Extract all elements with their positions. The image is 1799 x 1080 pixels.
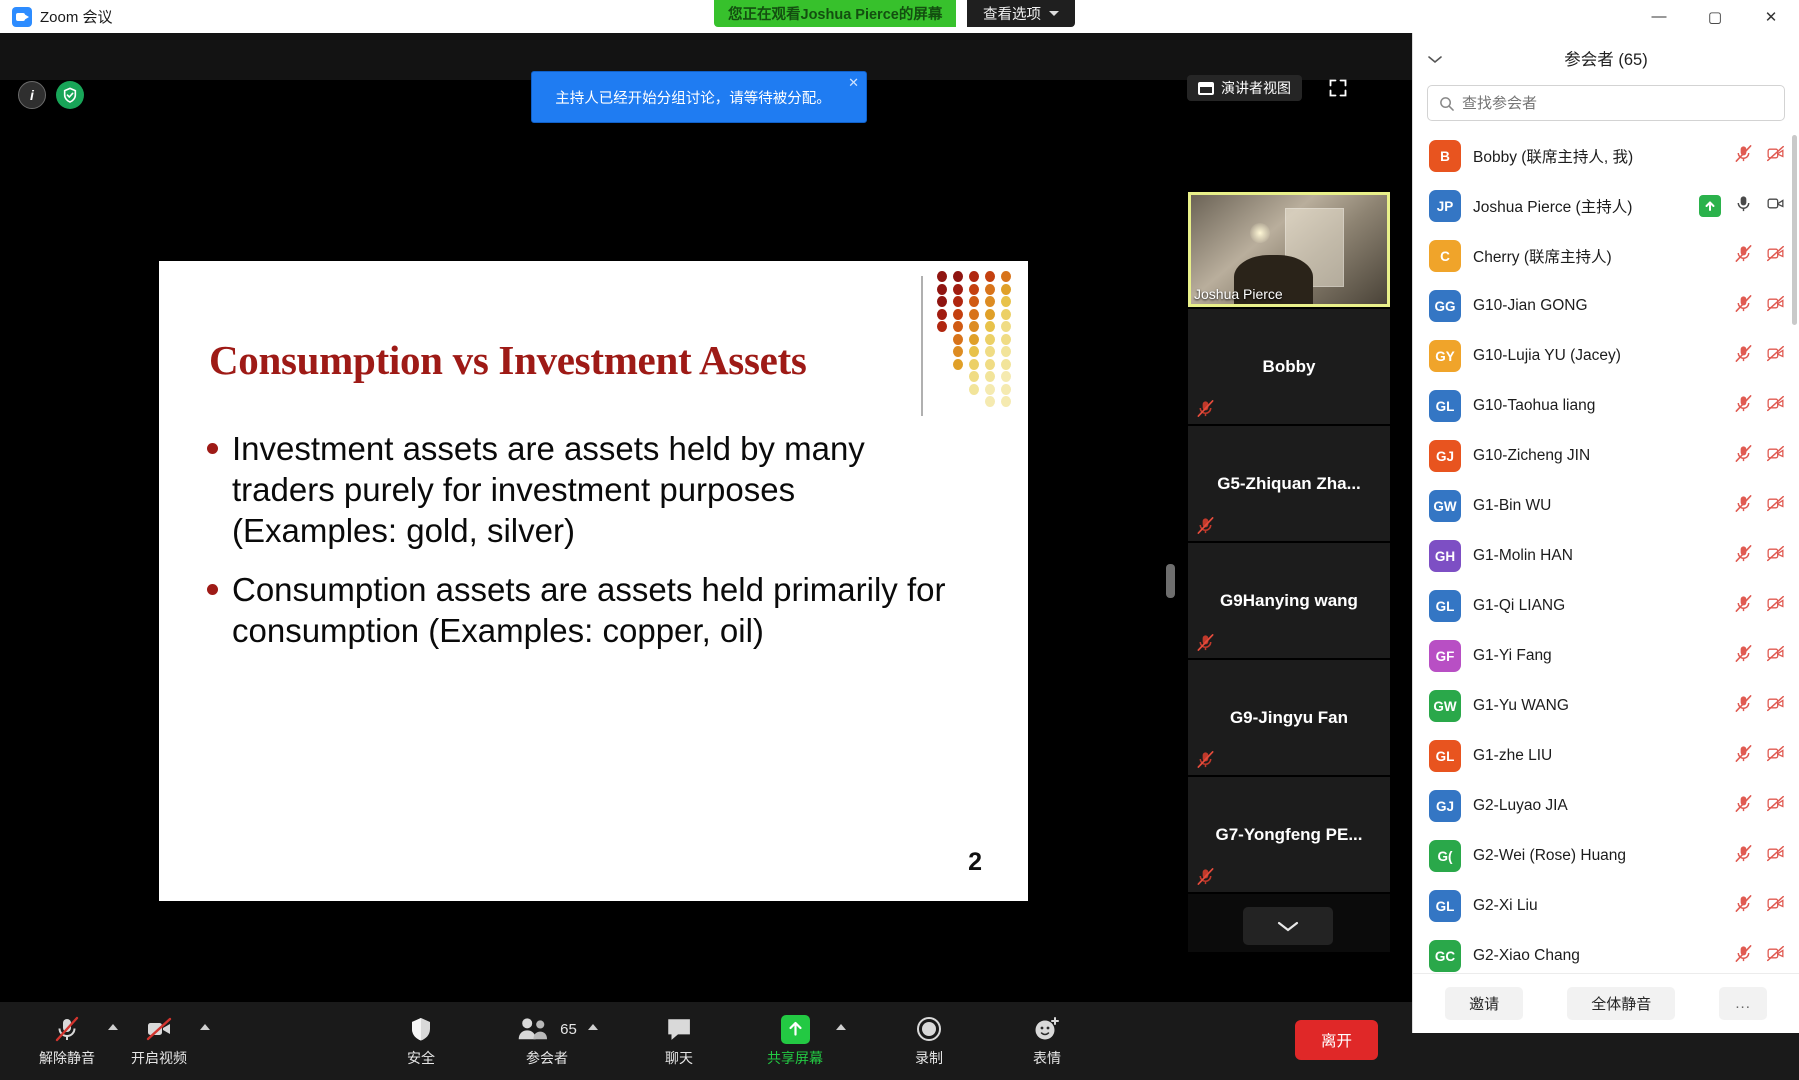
audio-options-button[interactable] xyxy=(98,1006,128,1076)
mic-off-icon xyxy=(1734,394,1753,413)
video-thumbnail[interactable]: G7-Yongfeng PE... xyxy=(1188,777,1390,894)
meeting-toolbar: 解除静音 开启视频 安全 xyxy=(0,1002,1412,1080)
mic-off-icon xyxy=(1196,633,1215,652)
participants-panel-header: 参会者 (65) xyxy=(1413,33,1799,83)
chevron-up-icon xyxy=(200,1024,210,1030)
dot-grid-dot xyxy=(969,359,979,370)
participant-mic-toggle[interactable] xyxy=(1734,794,1753,818)
slide-bullet-text: Consumption assets are assets held prima… xyxy=(232,570,967,652)
video-off-icon xyxy=(1766,944,1785,963)
participant-status-icons xyxy=(1734,294,1785,318)
video-off-icon xyxy=(1766,544,1785,563)
leave-meeting-button[interactable]: 离开 xyxy=(1295,1020,1378,1060)
participant-row[interactable]: GFG1-Yi Fang xyxy=(1413,631,1799,681)
participant-video-toggle[interactable] xyxy=(1766,544,1785,568)
video-thumbnail[interactable]: G9Hanying wang xyxy=(1188,543,1390,660)
video-off-icon xyxy=(1766,244,1785,263)
dot-grid-dot xyxy=(985,321,995,332)
dot-grid-dot xyxy=(969,271,979,282)
dot-grid-dot xyxy=(985,384,995,395)
video-background-lamp xyxy=(1250,223,1270,243)
dot-grid-dot xyxy=(985,359,995,370)
mic-off-icon xyxy=(1734,494,1753,513)
participant-mic-toggle[interactable] xyxy=(1734,344,1753,368)
video-off-icon xyxy=(145,1014,173,1044)
title-bar-left: Zoom 会议 xyxy=(0,6,700,27)
participant-video-toggle[interactable] xyxy=(1766,444,1785,468)
bullet-dot-icon xyxy=(207,584,218,595)
dot-grid-dot xyxy=(953,296,963,307)
video-options-button[interactable] xyxy=(190,1006,220,1076)
participant-mic-toggle[interactable] xyxy=(1734,694,1753,718)
participants-panel: 参会者 (65) BBobby (联席主持人, 我)JPJoshua Pierc… xyxy=(1412,33,1799,1033)
thumbnail-name: G9-Jingyu Fan xyxy=(1224,708,1354,728)
dot-grid-dot xyxy=(1001,371,1011,382)
participant-mic-toggle[interactable] xyxy=(1734,944,1753,968)
participants-panel-footer: 邀请 全体静音 ... xyxy=(1413,973,1799,1033)
video-off-icon xyxy=(1766,344,1785,363)
dot-grid-dot xyxy=(953,334,963,345)
participant-name: G1-Molin HAN xyxy=(1473,547,1722,565)
participant-row[interactable]: GJG2-Luyao JIA xyxy=(1413,781,1799,831)
mic-off-icon xyxy=(1734,894,1753,913)
participant-name: Cherry (联席主持人) xyxy=(1473,245,1722,267)
unmute-label: 解除静音 xyxy=(39,1048,95,1068)
avatar: GF xyxy=(1429,640,1461,672)
mute-all-button[interactable]: 全体静音 xyxy=(1567,987,1675,1020)
participant-mic-toggle[interactable] xyxy=(1734,744,1753,768)
dot-grid-dot xyxy=(1001,296,1011,307)
record-circle-icon xyxy=(916,1014,942,1044)
participant-name: Joshua Pierce (主持人) xyxy=(1473,195,1687,217)
raise-hand-badge xyxy=(1699,195,1721,217)
participant-status-icons xyxy=(1734,844,1785,868)
participant-mic-toggle[interactable] xyxy=(1734,294,1753,318)
dot-grid-dot xyxy=(953,309,963,320)
video-off-icon xyxy=(1766,494,1785,513)
dot-grid-dot xyxy=(1001,284,1011,295)
security-button[interactable]: 安全 xyxy=(390,1006,452,1076)
participant-status-icons xyxy=(1734,244,1785,268)
dot-grid-dot xyxy=(985,371,995,382)
dot-grid-dot xyxy=(1001,384,1011,395)
close-button[interactable]: ✕ xyxy=(1743,0,1799,33)
dot-grid-dot xyxy=(1001,271,1011,282)
participant-status-icons xyxy=(1734,944,1785,968)
mic-off-icon xyxy=(54,1014,80,1044)
share-screen-label: 共享屏幕 xyxy=(767,1048,823,1068)
unmute-button[interactable]: 解除静音 xyxy=(36,1006,98,1076)
screen-share-status-banner: 您正在观看Joshua Pierce的屏幕 xyxy=(714,0,956,27)
chevron-up-icon xyxy=(588,1024,598,1030)
participant-video-toggle[interactable] xyxy=(1766,394,1785,418)
share-options-button[interactable] xyxy=(826,1006,856,1076)
participant-mic-toggle[interactable] xyxy=(1734,394,1753,418)
dot-grid-dot xyxy=(969,321,979,332)
participant-video-toggle[interactable] xyxy=(1766,194,1785,218)
participant-status-icons xyxy=(1734,794,1785,818)
participant-status-icons xyxy=(1734,644,1785,668)
participant-name: G1-Yu WANG xyxy=(1473,697,1722,715)
dot-grid-dot xyxy=(969,346,979,357)
chevron-down-icon[interactable] xyxy=(1425,49,1445,69)
participant-status-icons xyxy=(1734,494,1785,518)
video-thumbnail[interactable]: G9-Jingyu Fan xyxy=(1188,660,1390,777)
participants-label: 参会者 xyxy=(526,1048,568,1068)
participant-status-icons xyxy=(1734,344,1785,368)
reactions-button[interactable]: 表情 xyxy=(1016,1006,1078,1076)
decorative-dot-grid xyxy=(937,271,1021,411)
mic-off-icon xyxy=(1734,944,1753,963)
mic-off-icon xyxy=(1734,794,1753,813)
slide-page-number: 2 xyxy=(968,848,982,877)
participants-count: 65 xyxy=(560,1021,577,1038)
participant-video-toggle[interactable] xyxy=(1766,694,1785,718)
participant-name: G10-Zicheng JIN xyxy=(1473,447,1722,465)
participant-row[interactable]: GGG10-Jian GONG xyxy=(1413,281,1799,331)
participant-status-icons xyxy=(1699,194,1785,218)
participant-video-toggle[interactable] xyxy=(1766,244,1785,268)
search-icon xyxy=(1439,96,1454,111)
participant-status-icons xyxy=(1734,144,1785,168)
mic-off-icon xyxy=(1734,444,1753,463)
participant-row[interactable]: GWG1-Yu WANG xyxy=(1413,681,1799,731)
participant-video-toggle[interactable] xyxy=(1766,844,1785,868)
avatar: GL xyxy=(1429,390,1461,422)
smiley-plus-icon xyxy=(1033,1014,1061,1044)
mic-off-icon xyxy=(1734,294,1753,313)
participant-video-toggle[interactable] xyxy=(1766,144,1785,168)
participant-row[interactable]: GLG10-Taohua liang xyxy=(1413,381,1799,431)
video-off-icon xyxy=(1766,644,1785,663)
participant-row[interactable]: GJG10-Zicheng JIN xyxy=(1413,431,1799,481)
participant-video-toggle[interactable] xyxy=(1766,744,1785,768)
window-controls: — ▢ ✕ xyxy=(1631,0,1799,33)
participant-name: G1-Bin WU xyxy=(1473,497,1722,515)
participant-mic-toggle[interactable] xyxy=(1734,244,1753,268)
dot-grid-dot xyxy=(969,371,979,382)
participant-name: Bobby (联席主持人, 我) xyxy=(1473,145,1722,167)
mic-off-icon xyxy=(1734,594,1753,613)
participant-video-toggle[interactable] xyxy=(1766,944,1785,968)
dot-grid-dot xyxy=(1001,396,1011,407)
avatar: G( xyxy=(1429,840,1461,872)
participant-row[interactable]: G(G2-Wei (Rose) Huang xyxy=(1413,831,1799,881)
dot-grid-dot xyxy=(969,284,979,295)
avatar: JP xyxy=(1429,190,1461,222)
participant-row[interactable]: BBobby (联席主持人, 我) xyxy=(1413,131,1799,181)
fullscreen-icon[interactable] xyxy=(1324,74,1352,102)
chevron-down-icon xyxy=(1049,11,1059,16)
notification-text: 主持人已经开始分组讨论，请等待被分配。 xyxy=(555,87,831,108)
avatar: GJ xyxy=(1429,790,1461,822)
slide-bullet-text: Investment assets are assets held by man… xyxy=(232,429,967,552)
slide-title: Consumption vs Investment Assets xyxy=(209,336,909,384)
dot-grid-dot xyxy=(937,296,947,307)
avatar: C xyxy=(1429,240,1461,272)
participant-list[interactable]: BBobby (联席主持人, 我)JPJoshua Pierce (主持人)CC… xyxy=(1413,131,1799,973)
dot-grid-dot xyxy=(953,346,963,357)
participant-status-icons xyxy=(1734,394,1785,418)
participant-status-icons xyxy=(1734,894,1785,918)
mic-off-icon xyxy=(1734,744,1753,763)
participant-status-icons xyxy=(1734,594,1785,618)
participant-video-toggle[interactable] xyxy=(1766,344,1785,368)
dot-grid-dot xyxy=(937,321,947,332)
chevron-up-icon xyxy=(836,1024,846,1030)
thumbnail-name: G7-Yongfeng PE... xyxy=(1209,825,1368,845)
participant-row[interactable]: GWG1-Bin WU xyxy=(1413,481,1799,531)
dot-grid-dot xyxy=(969,309,979,320)
participant-row[interactable]: GLG1-zhe LIU xyxy=(1413,731,1799,781)
start-video-label: 开启视频 xyxy=(131,1048,187,1068)
security-label: 安全 xyxy=(407,1048,435,1068)
view-options-label: 查看选项 xyxy=(983,3,1041,24)
maximize-button[interactable]: ▢ xyxy=(1687,0,1743,33)
meeting-info-icon[interactable]: i xyxy=(18,81,46,109)
dot-grid-dot xyxy=(985,334,995,345)
mic-off-icon xyxy=(1734,244,1753,263)
video-off-icon xyxy=(1766,444,1785,463)
shield-icon xyxy=(409,1014,433,1044)
video-off-icon xyxy=(1766,594,1785,613)
dot-grid-dot xyxy=(953,284,963,295)
video-thumbnail[interactable]: G5-Zhiquan Zha... xyxy=(1188,426,1390,543)
participant-mic-toggle[interactable] xyxy=(1734,844,1753,868)
chat-button[interactable]: 聊天 xyxy=(648,1006,710,1076)
dot-grid-dot xyxy=(985,284,995,295)
video-off-icon xyxy=(1766,894,1785,913)
dot-grid-dot xyxy=(1001,334,1011,345)
dot-grid-dot xyxy=(937,309,947,320)
mic-off-icon xyxy=(1196,750,1215,769)
close-icon[interactable]: ✕ xyxy=(848,76,859,89)
mic-off-icon xyxy=(1734,344,1753,363)
participant-row[interactable]: JPJoshua Pierce (主持人) xyxy=(1413,181,1799,231)
dot-grid-dot xyxy=(985,396,995,407)
avatar: GC xyxy=(1429,940,1461,972)
slide-viewport: Consumption vs Investment Assets Investm… xyxy=(14,224,1152,880)
avatar: GW xyxy=(1429,490,1461,522)
speaker-view-button[interactable]: 演讲者视图 xyxy=(1187,75,1302,101)
avatar: GL xyxy=(1429,890,1461,922)
participant-row[interactable]: GYG10-Lujia YU (Jacey) xyxy=(1413,331,1799,381)
search-input[interactable] xyxy=(1462,95,1773,112)
video-on-icon xyxy=(1766,194,1785,213)
dot-grid-dot xyxy=(937,284,947,295)
thumbnail-name: Bobby xyxy=(1257,357,1322,377)
avatar: GY xyxy=(1429,340,1461,372)
slide-bullet-item: Investment assets are assets held by man… xyxy=(207,429,967,552)
participant-name: G2-Luyao JIA xyxy=(1473,797,1722,815)
video-off-icon xyxy=(1766,844,1785,863)
participant-status-icons xyxy=(1734,744,1785,768)
chat-label: 聊天 xyxy=(665,1048,693,1068)
invite-button[interactable]: 邀请 xyxy=(1445,987,1523,1020)
video-thumbnail[interactable]: Joshua Pierce xyxy=(1188,192,1390,309)
participant-row[interactable]: GHG1-Molin HAN xyxy=(1413,531,1799,581)
mic-off-icon xyxy=(1734,694,1753,713)
share-arrow-up-icon xyxy=(781,1014,810,1044)
avatar: GL xyxy=(1429,590,1461,622)
dot-grid-dot xyxy=(969,334,979,345)
video-thumbnail-strip: Joshua PierceBobbyG5-Zhiquan Zha...G9Han… xyxy=(1188,192,1390,952)
video-off-icon xyxy=(1766,694,1785,713)
avatar: GH xyxy=(1429,540,1461,572)
thumbnail-name: G9Hanying wang xyxy=(1214,591,1364,611)
reactions-label: 表情 xyxy=(1033,1048,1061,1068)
dot-grid-dot xyxy=(953,359,963,370)
participant-video-toggle[interactable] xyxy=(1766,294,1785,318)
mic-on-icon xyxy=(1734,194,1753,213)
participant-name: G1-zhe LIU xyxy=(1473,747,1722,765)
dot-grid-dot xyxy=(1001,309,1011,320)
thumbnail-name: G5-Zhiquan Zha... xyxy=(1211,474,1367,494)
participant-video-toggle[interactable] xyxy=(1766,894,1785,918)
participant-mic-toggle[interactable] xyxy=(1734,594,1753,618)
avatar: GL xyxy=(1429,740,1461,772)
avatar: B xyxy=(1429,140,1461,172)
raise-hand-icon xyxy=(1704,200,1716,212)
participant-name: G2-Xiao Chang xyxy=(1473,947,1722,965)
participant-row[interactable]: GLG2-Xi Liu xyxy=(1413,881,1799,931)
mic-off-icon xyxy=(1734,144,1753,163)
record-label: 录制 xyxy=(915,1048,943,1068)
chat-bubble-icon xyxy=(665,1014,693,1044)
participant-status-icons xyxy=(1734,544,1785,568)
dot-grid-dot xyxy=(953,271,963,282)
share-screen-button[interactable]: 共享屏幕 xyxy=(764,1006,826,1076)
participant-mic-toggle[interactable] xyxy=(1734,194,1753,218)
dot-grid-dot xyxy=(969,296,979,307)
dot-grid-dot xyxy=(985,346,995,357)
participant-mic-toggle[interactable] xyxy=(1734,444,1753,468)
participant-mic-toggle[interactable] xyxy=(1734,544,1753,568)
participant-video-toggle[interactable] xyxy=(1766,644,1785,668)
slide-bullet-item: Consumption assets are assets held prima… xyxy=(207,570,967,652)
dot-grid-dot xyxy=(937,271,947,282)
thumbnail-scroll-down-button[interactable] xyxy=(1243,907,1333,945)
participant-list-scrollbar[interactable] xyxy=(1792,135,1797,325)
participant-row[interactable]: GLG1-Qi LIANG xyxy=(1413,581,1799,631)
thumbnail-name: Joshua Pierce xyxy=(1194,286,1283,302)
participant-video-toggle[interactable] xyxy=(1766,494,1785,518)
record-button[interactable]: 录制 xyxy=(898,1006,960,1076)
dot-grid-dot xyxy=(1001,321,1011,332)
slide-title-rule xyxy=(921,276,923,416)
participants-options-button[interactable] xyxy=(578,1006,608,1076)
mic-off-icon xyxy=(1196,399,1215,418)
breakout-room-notification: 主持人已经开始分组讨论，请等待被分配。 ✕ xyxy=(531,71,867,123)
video-thumbnail[interactable]: Bobby xyxy=(1188,309,1390,426)
speaker-view-icon xyxy=(1198,82,1214,95)
video-off-icon xyxy=(1766,794,1785,813)
bullet-dot-icon xyxy=(207,443,218,454)
dot-grid-dot xyxy=(985,296,995,307)
participant-name: G1-Qi LIANG xyxy=(1473,597,1722,615)
slide-bullet-list: Investment assets are assets held by man… xyxy=(207,429,967,670)
avatar: GW xyxy=(1429,690,1461,722)
avatar: GJ xyxy=(1429,440,1461,472)
shield-check-icon[interactable] xyxy=(56,81,84,109)
participant-mic-toggle[interactable] xyxy=(1734,494,1753,518)
mic-off-icon xyxy=(1196,516,1215,535)
dot-grid-dot xyxy=(1001,346,1011,357)
start-video-button[interactable]: 开启视频 xyxy=(128,1006,190,1076)
participant-search-box[interactable] xyxy=(1427,85,1785,121)
participants-panel-title: 参会者 (65) xyxy=(1413,46,1799,70)
panel-drag-handle[interactable] xyxy=(1166,564,1175,598)
participant-row[interactable]: CCherry (联席主持人) xyxy=(1413,231,1799,281)
video-off-icon xyxy=(1766,144,1785,163)
participant-name: G2-Wei (Rose) Huang xyxy=(1473,847,1722,865)
speaker-view-label: 演讲者视图 xyxy=(1221,78,1291,98)
participant-name: G10-Taohua liang xyxy=(1473,397,1722,415)
participant-name: G2-Xi Liu xyxy=(1473,897,1722,915)
participant-name: G10-Jian GONG xyxy=(1473,297,1722,315)
participant-status-icons xyxy=(1734,444,1785,468)
dot-grid-dot xyxy=(985,309,995,320)
participant-mic-toggle[interactable] xyxy=(1734,644,1753,668)
video-off-icon xyxy=(1766,744,1785,763)
mic-off-icon xyxy=(1196,867,1215,886)
app-title: Zoom 会议 xyxy=(40,6,113,27)
video-off-icon xyxy=(1766,294,1785,313)
mic-off-icon xyxy=(1734,844,1753,863)
zoom-logo-icon xyxy=(12,7,32,27)
participant-video-toggle[interactable] xyxy=(1766,594,1785,618)
dot-grid-dot xyxy=(985,271,995,282)
view-options-button[interactable]: 查看选项 xyxy=(967,0,1075,27)
video-off-icon xyxy=(1766,394,1785,413)
presentation-slide: Consumption vs Investment Assets Investm… xyxy=(159,261,1028,901)
participants-button[interactable]: 65 参会者 xyxy=(516,1006,578,1076)
participant-mic-toggle[interactable] xyxy=(1734,144,1753,168)
minimize-button[interactable]: — xyxy=(1631,0,1687,33)
chevron-up-icon xyxy=(108,1024,118,1030)
mic-off-icon xyxy=(1734,544,1753,563)
participant-name: G1-Yi Fang xyxy=(1473,647,1722,665)
dot-grid-dot xyxy=(1001,359,1011,370)
participants-icon: 65 xyxy=(517,1014,577,1044)
more-options-button[interactable]: ... xyxy=(1719,987,1767,1020)
participant-name: G10-Lujia YU (Jacey) xyxy=(1473,347,1722,365)
participant-mic-toggle[interactable] xyxy=(1734,894,1753,918)
mic-off-icon xyxy=(1734,644,1753,663)
dot-grid-dot xyxy=(953,321,963,332)
participant-row[interactable]: GCG2-Xiao Chang xyxy=(1413,931,1799,973)
dot-grid-dot xyxy=(969,384,979,395)
avatar: GG xyxy=(1429,290,1461,322)
participant-status-icons xyxy=(1734,694,1785,718)
participant-video-toggle[interactable] xyxy=(1766,794,1785,818)
